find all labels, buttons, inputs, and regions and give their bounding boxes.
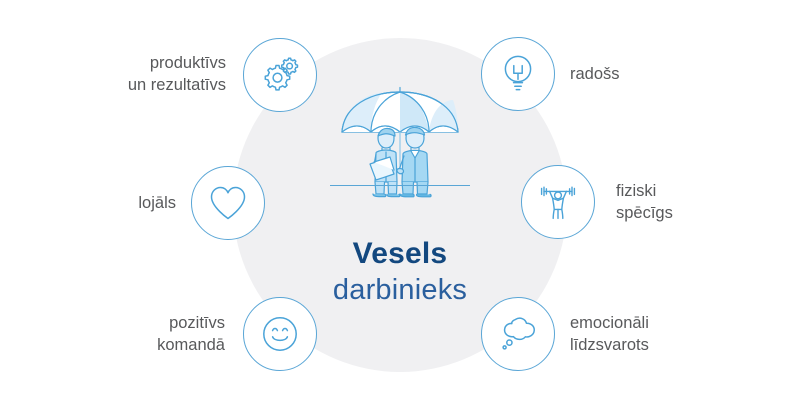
node-produktivs[interactable] [243, 38, 317, 112]
title-line-1: Vesels [250, 236, 550, 272]
node-fiziski-specigs-label: fiziski spēcīgs [616, 180, 736, 224]
node-lojals-label: lojāls [96, 192, 176, 214]
node-radoss[interactable] [481, 37, 555, 111]
node-emocionali-lidzsvarots[interactable] [481, 297, 555, 371]
two-people-under-umbrella-illustration [318, 86, 482, 198]
gears-icon [244, 39, 316, 111]
smiley-icon [244, 298, 316, 370]
node-pozitivs-komanda-label: pozitīvs komandā [110, 312, 225, 356]
lightbulb-icon [482, 38, 554, 110]
ground-line [330, 185, 470, 186]
node-radoss-label: radošs [570, 63, 710, 85]
weightlifter-icon [522, 166, 594, 238]
infographic-canvas: Vesels darbinieks produktīvs un rezultat… [0, 0, 800, 408]
node-pozitivs-komanda[interactable] [243, 297, 317, 371]
node-fiziski-specigs[interactable] [521, 165, 595, 239]
node-lojals[interactable] [191, 166, 265, 240]
thought-bubble-icon [482, 298, 554, 370]
heart-icon [192, 167, 264, 239]
node-emocionali-lidzsvarots-label: emocionāli līdzsvarots [570, 312, 720, 356]
node-produktivs-label: produktīvs un rezultatīvs [96, 52, 226, 96]
